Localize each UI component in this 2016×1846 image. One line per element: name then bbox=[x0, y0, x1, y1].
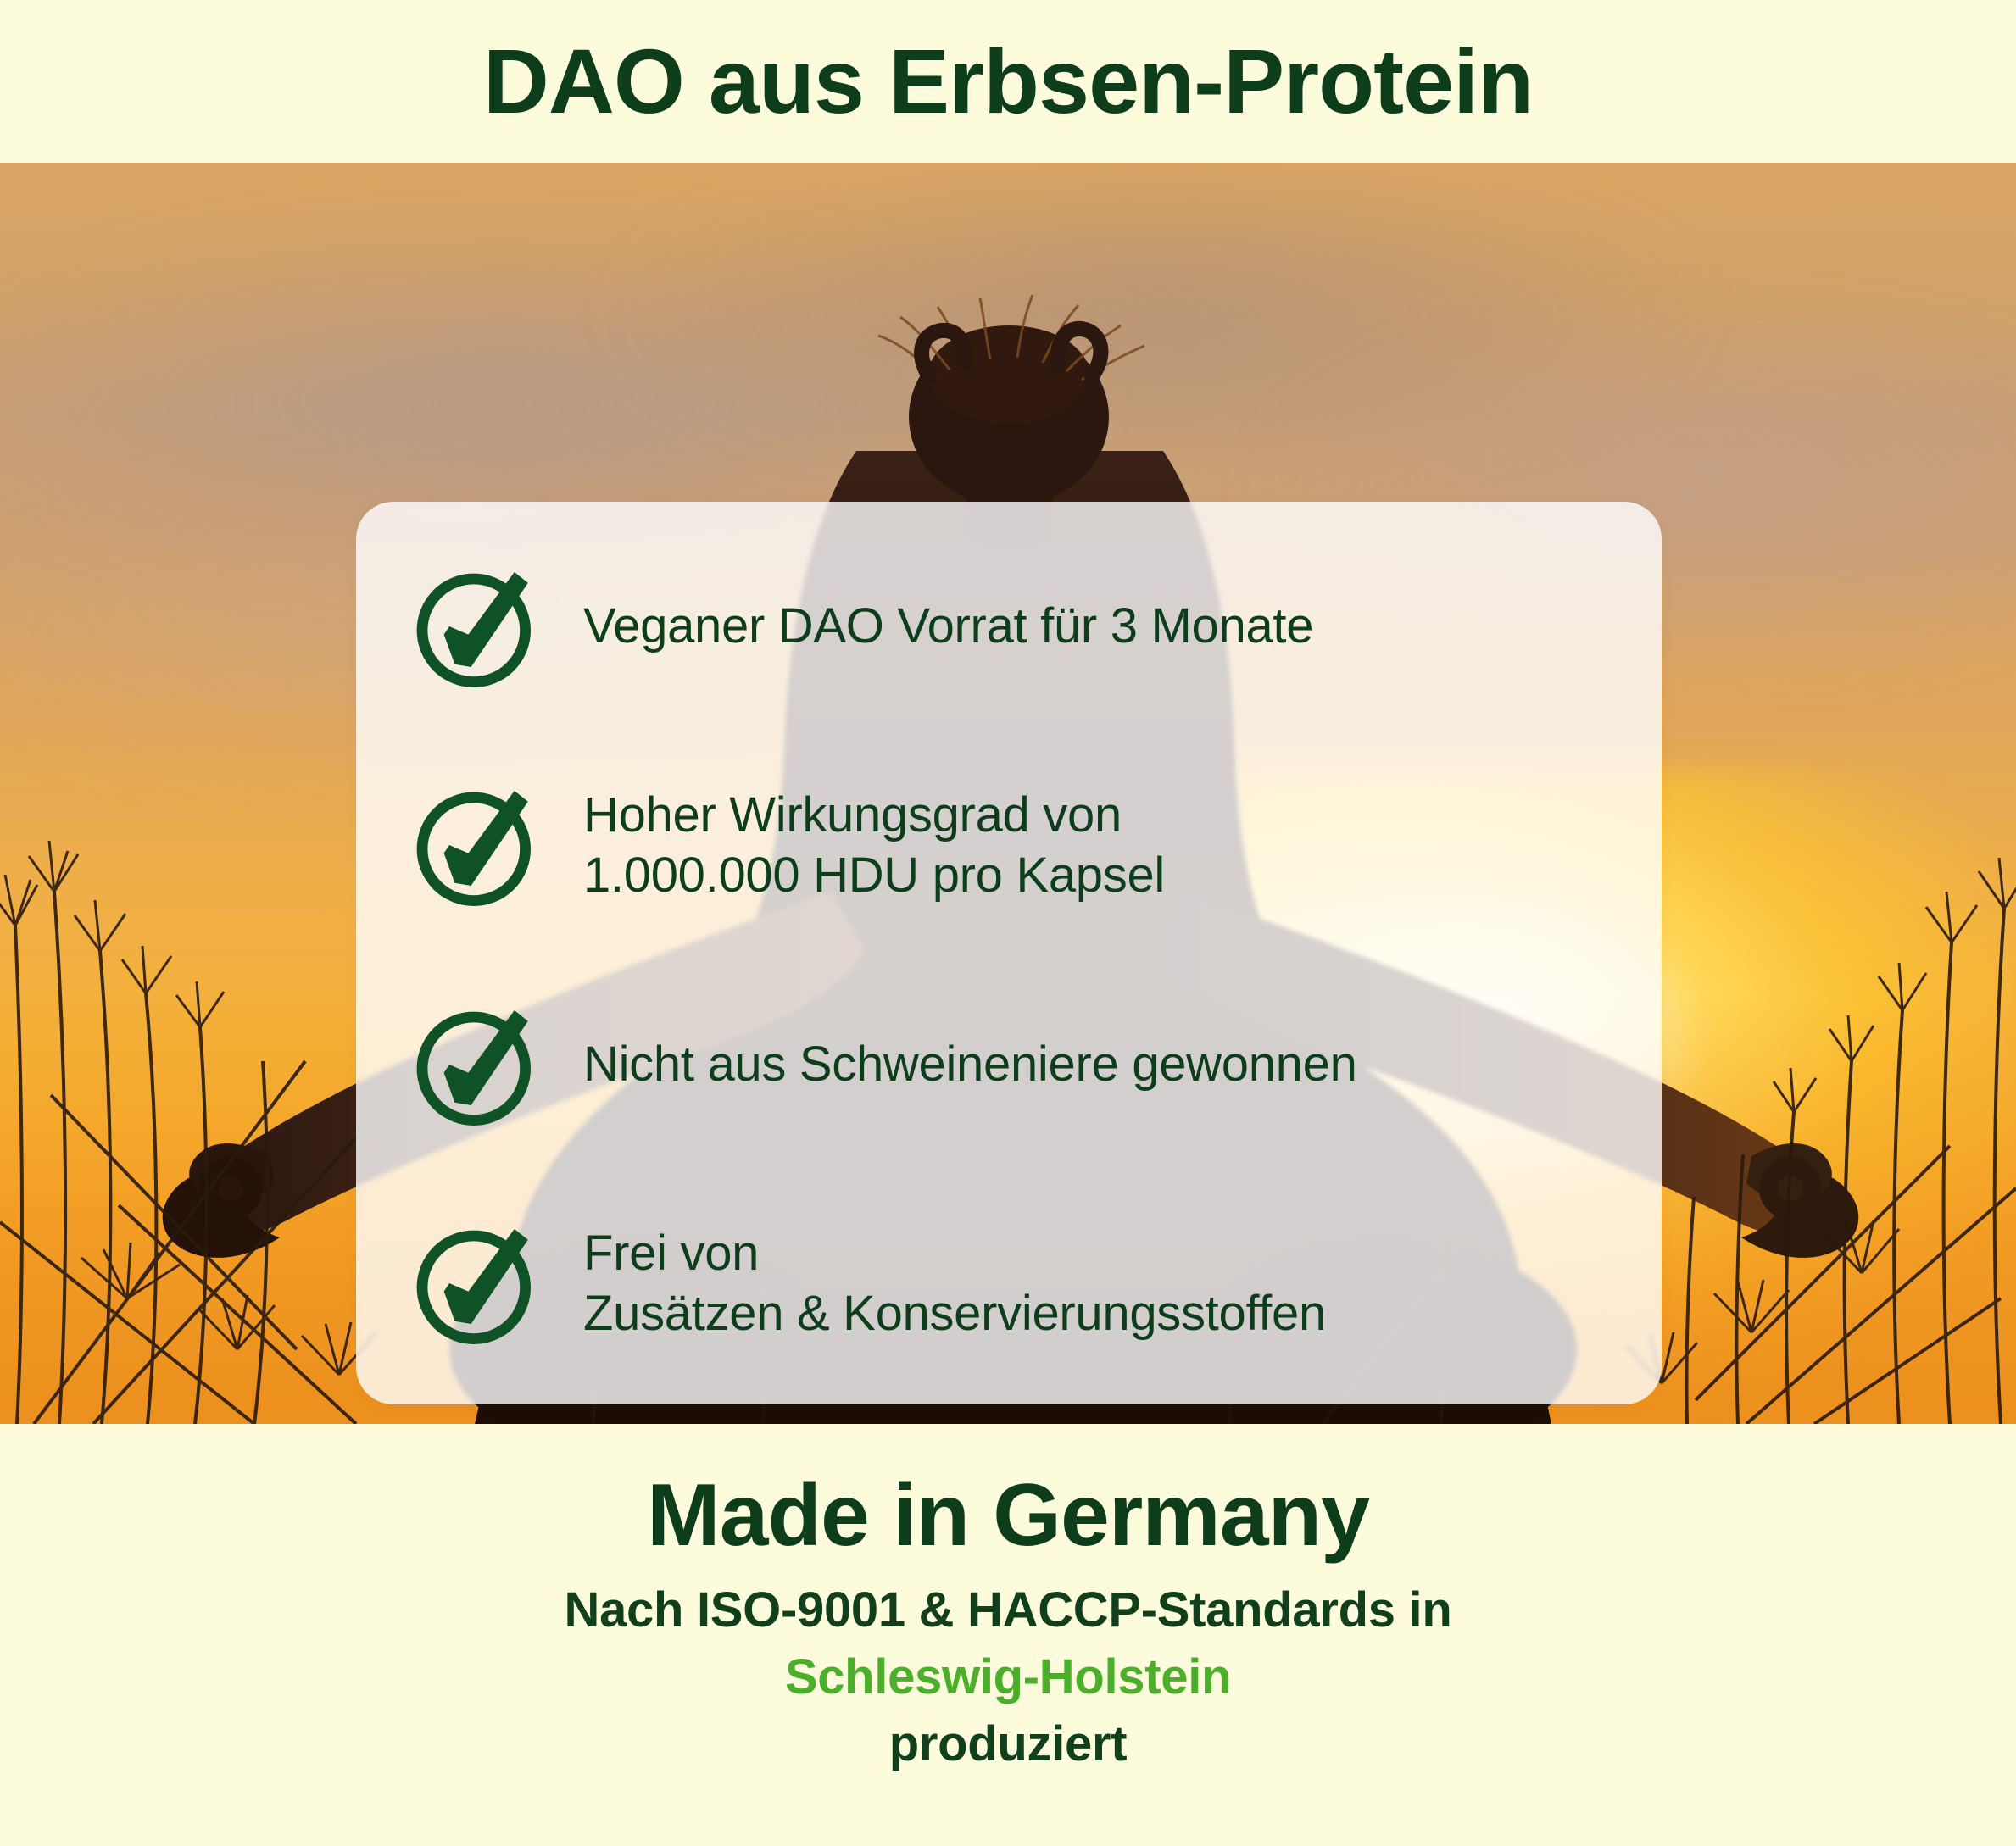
check-circle-icon bbox=[409, 777, 544, 913]
list-item: Hoher Wirkungsgrad von 1.000.000 HDU pro… bbox=[409, 773, 1614, 917]
region-line: Schleswig-Holstein bbox=[785, 1649, 1231, 1705]
list-item-label: Veganer DAO Vorrat für 3 Monate bbox=[583, 596, 1313, 656]
footer-band: Made in Germany Nach ISO-9001 & HACCP-St… bbox=[0, 1424, 2016, 1846]
list-item: Nicht aus Schweineniere gewonnen bbox=[409, 993, 1614, 1137]
list-item: Frei von Zusätzen & Konservierungsstoffe… bbox=[409, 1211, 1614, 1355]
page-title: DAO aus Erbsen-Protein bbox=[483, 36, 1533, 127]
produced-line: produziert bbox=[889, 1715, 1128, 1772]
check-circle-icon bbox=[409, 559, 544, 694]
list-item-label: Frei von Zusätzen & Konservierungsstoffe… bbox=[583, 1223, 1326, 1344]
certification-line: Nach ISO-9001 & HACCP-Standards in bbox=[565, 1582, 1452, 1638]
list-item-label: Nicht aus Schweineniere gewonnen bbox=[583, 1034, 1357, 1094]
check-circle-icon bbox=[409, 997, 544, 1132]
benefits-card: Veganer DAO Vorrat für 3 Monate Hoher Wi… bbox=[356, 502, 1662, 1404]
hero-photo: Veganer DAO Vorrat für 3 Monate Hoher Wi… bbox=[0, 163, 2016, 1424]
promo-poster: DAO aus Erbsen-Protein bbox=[0, 0, 2016, 1846]
list-item-label: Hoher Wirkungsgrad von 1.000.000 HDU pro… bbox=[583, 785, 1165, 906]
check-circle-icon bbox=[409, 1215, 544, 1351]
made-in-germany-headline: Made in Germany bbox=[647, 1468, 1369, 1563]
list-item: Veganer DAO Vorrat für 3 Monate bbox=[409, 554, 1614, 698]
title-band: DAO aus Erbsen-Protein bbox=[0, 0, 2016, 163]
